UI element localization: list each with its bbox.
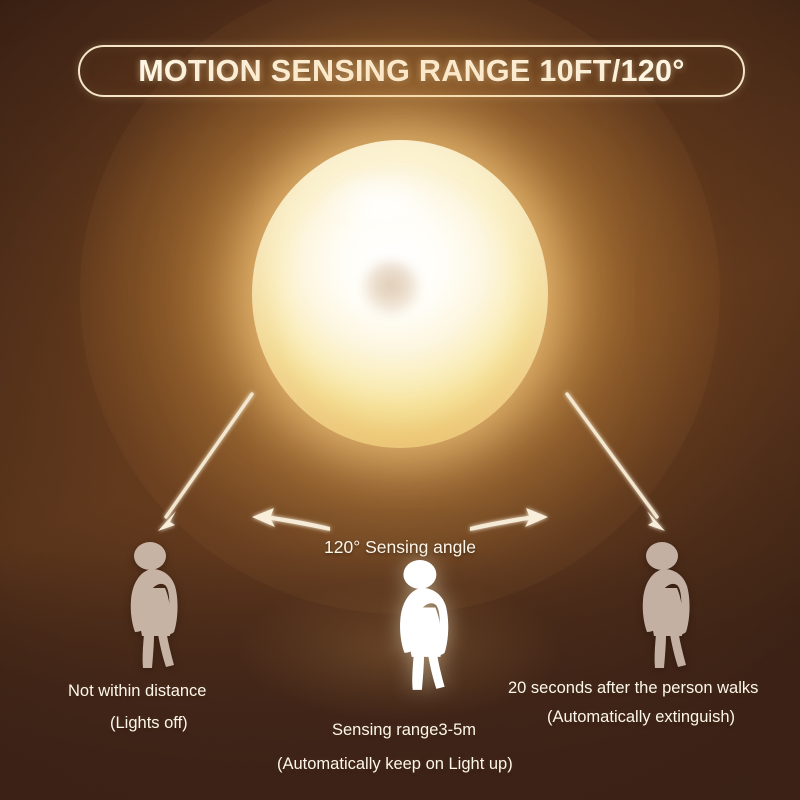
person-figure-in-range [386, 558, 462, 694]
caption-walked-away-line2: (Automatically extinguish) [547, 708, 735, 727]
motion-sensor-lens-icon [363, 260, 419, 316]
caption-in-range-line2: (Automatically keep on Light up) [277, 755, 513, 774]
product-lamp [252, 140, 548, 448]
caption-out-of-range-line2: (Lights off) [110, 714, 188, 733]
lamp-highlight [322, 171, 442, 233]
caption-in-range-line1: Sensing range3-5m [332, 721, 476, 740]
page-title: MOTION SENSING RANGE 10FT/120° [138, 54, 685, 89]
caption-walked-away-line1: 20 seconds after the person walks [508, 679, 758, 698]
person-figure-out-of-range [118, 540, 190, 672]
caption-out-of-range-line1: Not within distance [68, 682, 207, 701]
page-title-pill: MOTION SENSING RANGE 10FT/120° [78, 45, 745, 97]
infographic-canvas: MOTION SENSING RANGE 10FT/120° [0, 0, 800, 800]
sensing-angle-label: 120° Sensing angle [324, 537, 476, 558]
person-figure-walked-away [630, 540, 702, 672]
